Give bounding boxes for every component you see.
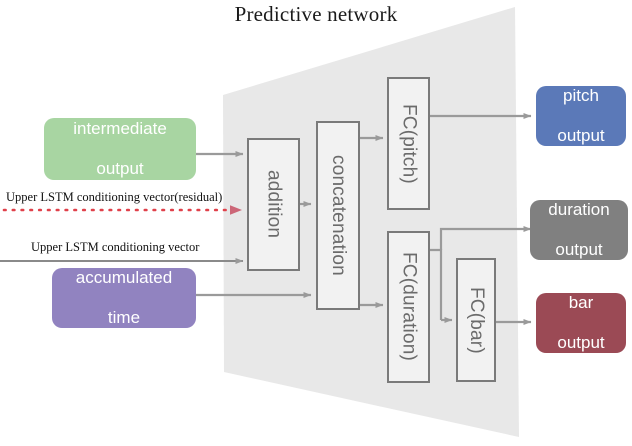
- pitch-output-line2: output: [551, 126, 610, 146]
- residual-edge-label: Upper LSTM conditioning vector(residual): [6, 190, 222, 205]
- diagram-canvas: Predictive network intermediate output a…: [0, 0, 632, 446]
- conditioning-edge-label: Upper LSTM conditioning vector: [31, 240, 199, 255]
- fc-duration-label: FC(duration): [398, 252, 420, 361]
- fc-bar-label: FC(bar): [465, 287, 487, 354]
- bar-output-line2: output: [551, 333, 610, 353]
- fc-pitch-block[interactable]: FC(pitch): [387, 77, 430, 210]
- accumulated-time-line1: accumulated: [70, 268, 178, 288]
- bar-output-line1: bar: [551, 293, 610, 313]
- intermediate-output-box[interactable]: intermediate output: [44, 118, 196, 180]
- duration-output-box[interactable]: duration output: [530, 200, 628, 260]
- fc-duration-block[interactable]: FC(duration): [387, 231, 430, 383]
- pitch-output-line1: pitch: [551, 86, 610, 106]
- addition-block[interactable]: addition: [247, 138, 300, 271]
- bar-output-box[interactable]: bar output: [536, 293, 626, 353]
- fc-pitch-label: FC(pitch): [398, 104, 420, 184]
- pitch-output-box[interactable]: pitch output: [536, 86, 626, 146]
- addition-label: addition: [263, 170, 285, 238]
- duration-output-line2: output: [542, 240, 615, 260]
- intermediate-output-line1: intermediate: [67, 119, 173, 139]
- diagram-title: Predictive network: [0, 2, 632, 27]
- duration-output-line1: duration: [542, 200, 615, 220]
- accumulated-time-box[interactable]: accumulated time: [52, 268, 196, 328]
- accumulated-time-line2: time: [70, 308, 178, 328]
- concatenation-block[interactable]: concatenation: [316, 121, 360, 310]
- fc-bar-block[interactable]: FC(bar): [456, 258, 496, 382]
- intermediate-output-line2: output: [67, 159, 173, 179]
- concatenation-label: concatenation: [327, 155, 349, 276]
